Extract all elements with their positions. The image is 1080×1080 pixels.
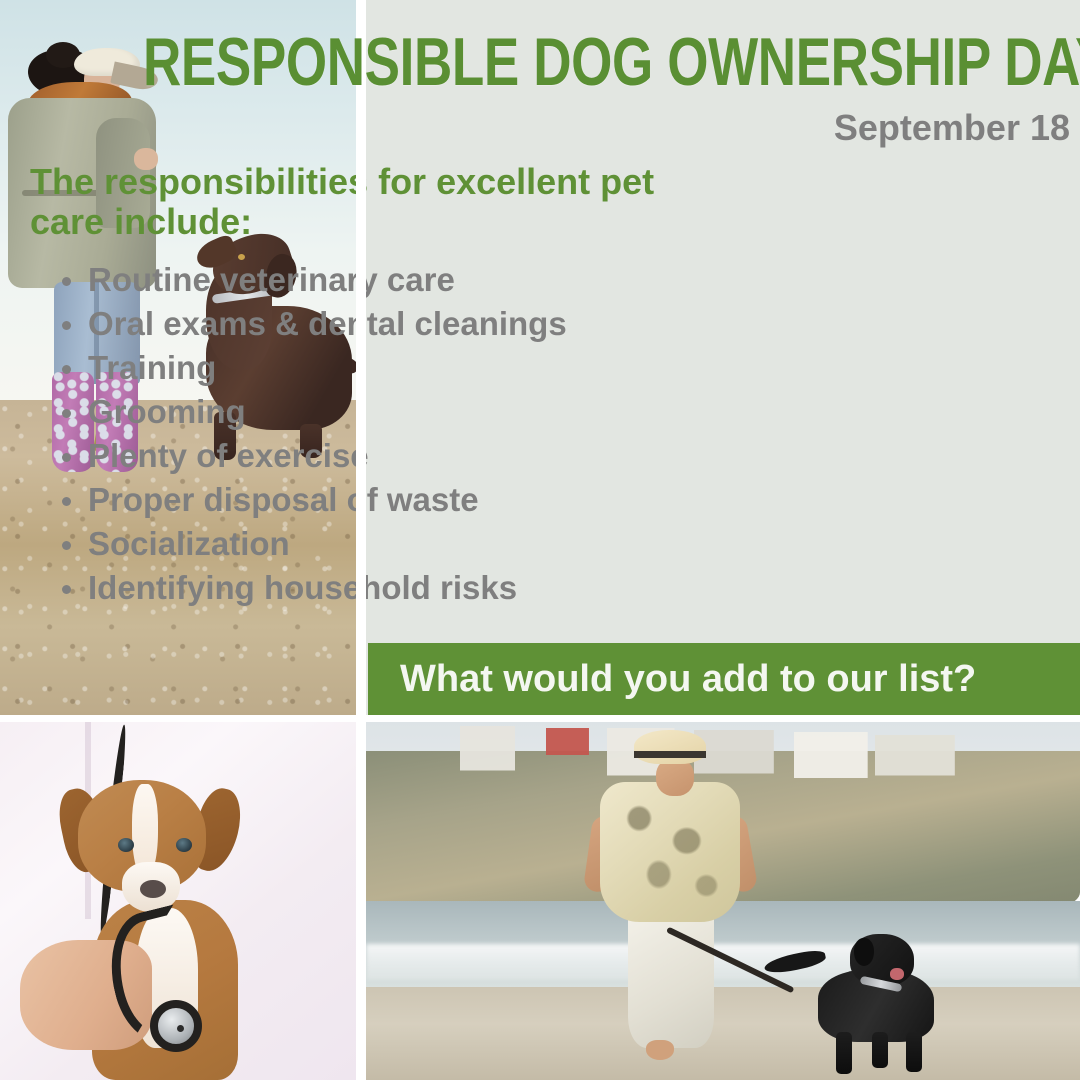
list-item-label: Oral exams & dental cleanings <box>88 305 567 342</box>
man-patterned-shirt <box>600 782 740 922</box>
poster-canvas: RESPONSIBLE DOG OWNERSHIP DAY September … <box>0 0 1080 1080</box>
list-item: Socialization <box>40 522 700 566</box>
page-title: RESPONSIBLE DOG OWNERSHIP DAY <box>143 26 868 98</box>
bullet-icon <box>62 497 71 506</box>
bullet-icon <box>62 409 71 418</box>
black-dog-ear <box>854 938 874 966</box>
bullet-icon <box>62 585 71 594</box>
list-item: Oral exams & dental cleanings <box>40 302 700 346</box>
list-item: Grooming <box>40 390 700 434</box>
list-item-label: Plenty of exercise <box>88 437 369 474</box>
puppy-eye-left <box>118 838 134 852</box>
bullet-icon <box>62 541 71 550</box>
stethoscope-chestpiece <box>150 1000 202 1052</box>
list-item-label: Routine veterinary care <box>88 261 455 298</box>
bullet-icon <box>62 453 71 462</box>
responsibility-list: Routine veterinary care Oral exams & den… <box>40 258 700 610</box>
list-item-label: Grooming <box>88 393 246 430</box>
list-item: Proper disposal of waste <box>40 478 700 522</box>
horizontal-divider <box>0 715 1080 722</box>
beach-sand <box>366 987 1080 1080</box>
list-item: Identifying household risks <box>40 566 700 610</box>
list-item: Training <box>40 346 700 390</box>
hillside-houses <box>437 726 1051 826</box>
list-item-label: Socialization <box>88 525 290 562</box>
photo-puppy-with-vet <box>0 722 356 1080</box>
black-dog-leg-middle <box>872 1032 888 1068</box>
vertical-divider-bottom <box>356 722 366 1080</box>
bullet-icon <box>62 277 71 286</box>
straw-hat <box>634 730 706 764</box>
list-item: Plenty of exercise <box>40 434 700 478</box>
list-item: Routine veterinary care <box>40 258 700 302</box>
list-item-label: Training <box>88 349 216 386</box>
surf-foam <box>366 944 1080 980</box>
black-dog-tongue <box>890 968 904 980</box>
photo-man-running-with-dog <box>366 722 1080 1080</box>
bullet-icon <box>62 321 71 330</box>
call-to-action-banner: What would you add to our list? <box>368 643 1080 715</box>
list-item-label: Proper disposal of waste <box>88 481 479 518</box>
bullet-icon <box>62 365 71 374</box>
puppy-eye-right <box>176 838 192 852</box>
man-bare-foot <box>646 1040 674 1060</box>
list-item-label: Identifying household risks <box>88 569 517 606</box>
black-dog-leg-front <box>836 1032 852 1074</box>
event-date: September 18 <box>834 108 1070 148</box>
puppy-nose <box>140 880 166 898</box>
vertical-divider-top <box>356 0 366 715</box>
call-to-action-text: What would you add to our list? <box>368 658 976 701</box>
black-dog-leg-rear <box>906 1032 922 1072</box>
